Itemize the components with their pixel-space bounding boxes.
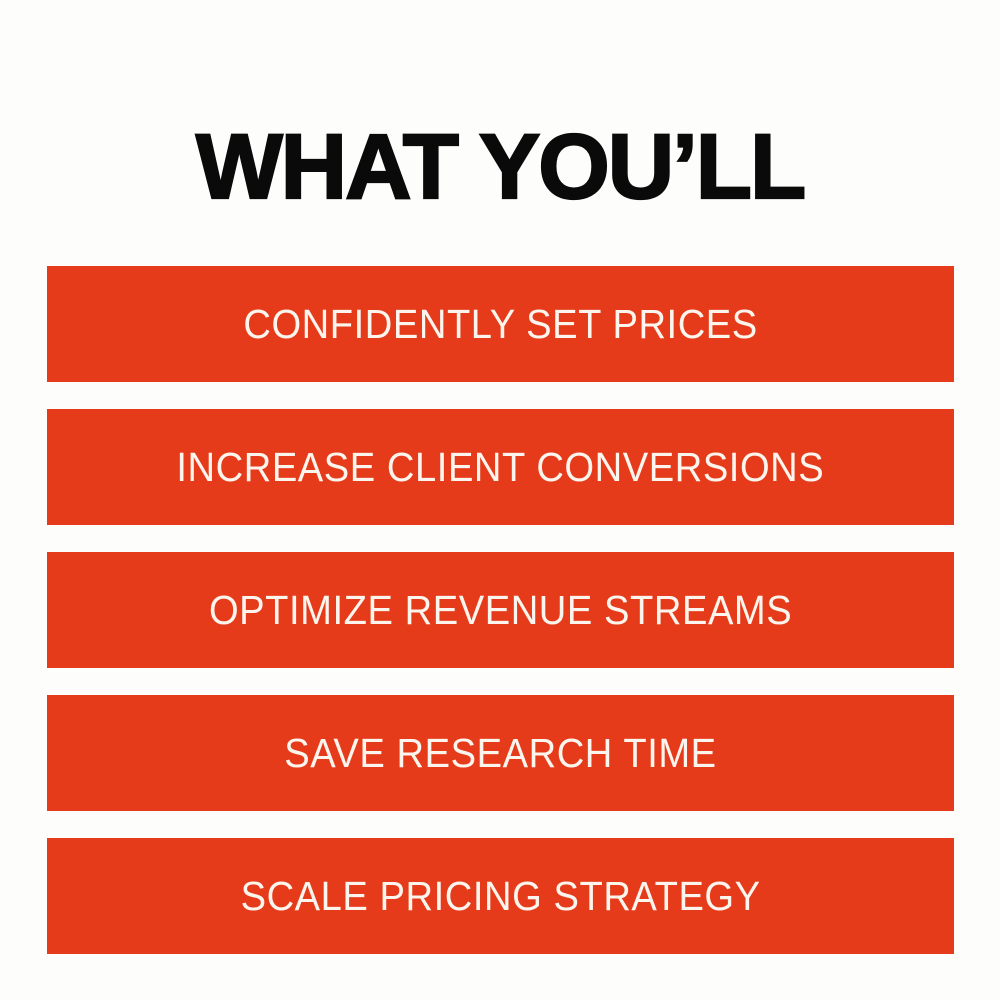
benefit-label-1: CONFIDENTLY SET PRICES	[243, 304, 757, 345]
benefit-bar-3: OPTIMIZE REVENUE STREAMS	[47, 552, 954, 668]
benefit-label-4: SAVE RESEARCH TIME	[284, 733, 716, 774]
poster-canvas: WHAT YOU’LL LEARN INSIDE CONFIDENTLY SET…	[0, 0, 1000, 1000]
benefits-list: CONFIDENTLY SET PRICES INCREASE CLIENT C…	[47, 266, 954, 954]
benefit-bar-1: CONFIDENTLY SET PRICES	[47, 266, 954, 382]
benefit-bar-2: INCREASE CLIENT CONVERSIONS	[47, 409, 954, 525]
benefit-label-2: INCREASE CLIENT CONVERSIONS	[177, 447, 825, 488]
page-title-line-1: WHAT YOU’LL	[0, 132, 1000, 202]
benefit-label-5: SCALE PRICING STRATEGY	[240, 876, 760, 917]
benefit-bar-5: SCALE PRICING STRATEGY	[47, 838, 954, 954]
benefit-bar-4: SAVE RESEARCH TIME	[47, 695, 954, 811]
benefit-label-3: OPTIMIZE REVENUE STREAMS	[209, 590, 792, 631]
